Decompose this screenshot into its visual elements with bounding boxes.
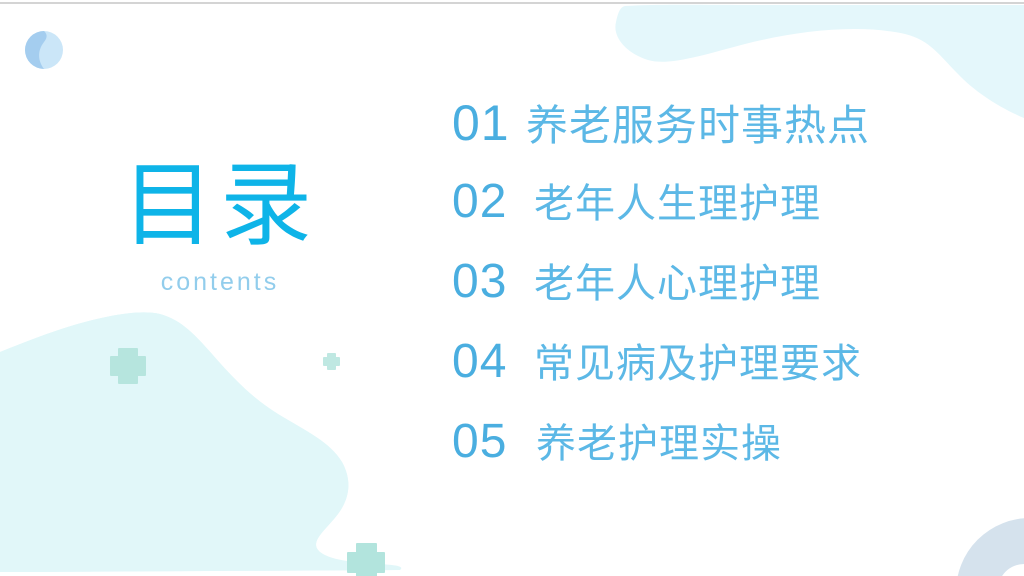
list-item[interactable]: 04 常见病及护理要求	[452, 338, 1012, 418]
list-item-label: 老年人生理护理	[534, 184, 821, 224]
bottom-left-blob-fill	[0, 312, 400, 572]
bottom-right-ring-shape	[962, 528, 1024, 576]
bottom-left-blob-shape	[0, 312, 401, 572]
list-item-number: 05	[452, 418, 526, 466]
contents-list: 01 养老服务时事热点 02 老年人生理护理 03 老年人心理护理 04 常见病…	[452, 98, 1012, 498]
bottom-right-ring-outer	[968, 530, 1024, 576]
cross-large-bottom	[347, 543, 385, 576]
title-block: 目录 contents	[0, 160, 440, 297]
list-item[interactable]: 02 老年人生理护理	[452, 178, 1012, 258]
list-item[interactable]: 05 养老护理实操	[452, 418, 1012, 498]
window-top-edge	[0, 2, 1024, 4]
list-item-number: 04	[452, 338, 526, 386]
list-item-label: 养老护理实操	[536, 424, 782, 464]
list-item-number: 01	[452, 98, 526, 148]
list-item[interactable]: 03 老年人心理护理	[452, 258, 1012, 338]
contents-slide: 目录 contents 01 养老服务时事热点 02 老年人生理护理 03 老年…	[0, 0, 1024, 576]
list-item-number: 02	[452, 178, 526, 226]
page-title: 目录	[0, 160, 440, 252]
list-item-label: 常见病及护理要求	[534, 344, 862, 384]
split-circle-icon	[25, 31, 63, 69]
list-item[interactable]: 01 养老服务时事热点	[452, 98, 1012, 178]
list-item-number: 03	[452, 258, 526, 306]
cross-small-middle	[323, 353, 340, 370]
page-subtitle: contents	[0, 268, 440, 297]
cross-large-left	[110, 348, 146, 384]
list-item-label: 养老服务时事热点	[526, 105, 870, 147]
list-item-label: 老年人心理护理	[534, 264, 821, 304]
